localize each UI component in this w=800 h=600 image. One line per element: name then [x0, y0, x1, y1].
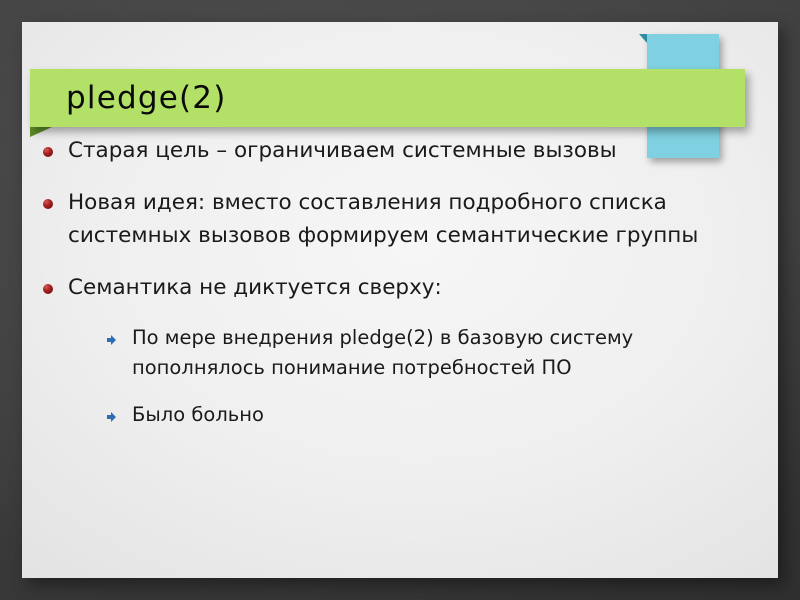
- sub-bullet-text: По мере внедрения pledge(2) в базовую си…: [132, 323, 717, 383]
- red-sphere-bullet-icon: [43, 147, 53, 157]
- bullet-item: Новая идея: вместо составления подробног…: [22, 186, 778, 252]
- accent-band-fold-icon: [639, 34, 647, 43]
- bullet-text: Старая цель – ограничиваем системные выз…: [68, 134, 617, 167]
- red-sphere-bullet-icon: [43, 284, 53, 294]
- slide-canvas: pledge(2) Старая цель – ограничиваем сис…: [22, 22, 778, 578]
- bullet-item: Семантика не диктуется сверху:: [22, 271, 778, 304]
- blue-arrow-bullet-icon: [106, 334, 117, 347]
- bullet-item: Старая цель – ограничиваем системные выз…: [22, 134, 778, 167]
- blue-arrow-bullet-icon: [106, 411, 117, 424]
- slide-body: Старая цель – ограничиваем системные выз…: [22, 134, 778, 447]
- slide-title: pledge(2): [66, 83, 227, 114]
- bullet-text: Семантика не диктуется сверху:: [68, 271, 442, 304]
- sub-bullet-text: Было больно: [132, 400, 264, 430]
- sub-bullet-item: Было больно: [22, 400, 778, 430]
- sub-bullet-item: По мере внедрения pledge(2) в базовую си…: [22, 323, 778, 383]
- bullet-text: Новая идея: вместо составления подробног…: [68, 186, 708, 252]
- red-sphere-bullet-icon: [43, 199, 53, 209]
- title-ribbon: pledge(2): [30, 69, 745, 127]
